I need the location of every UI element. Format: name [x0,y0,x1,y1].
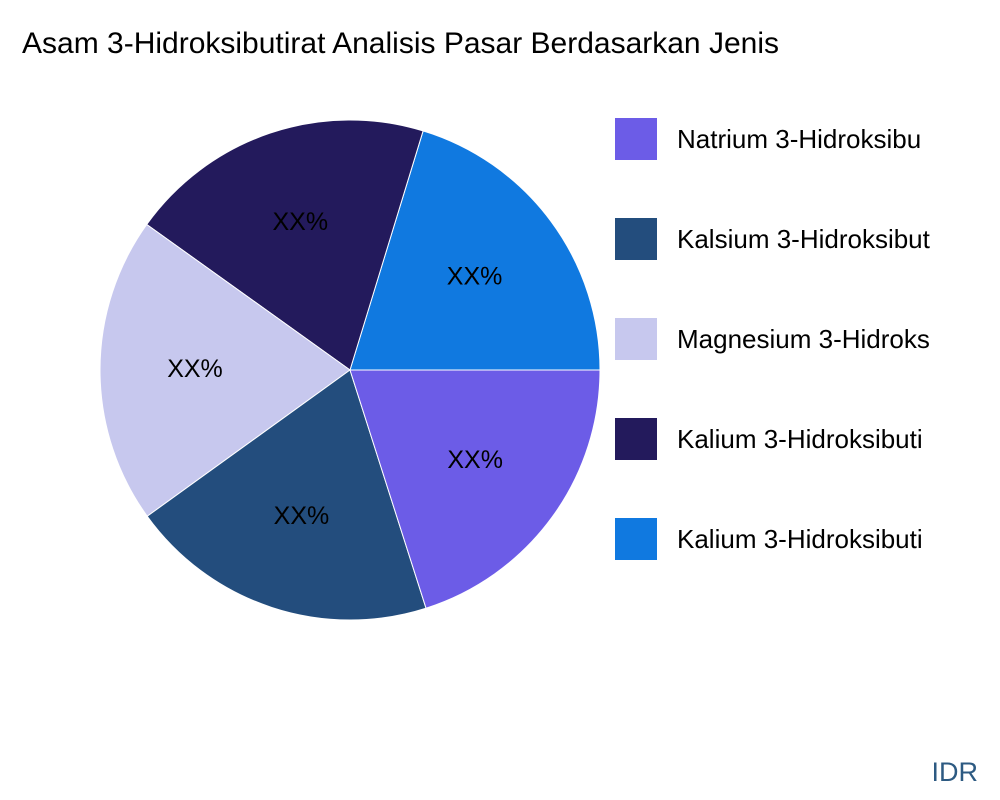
legend: Natrium 3-HidroksibuKalsium 3-Hidroksibu… [615,118,1000,618]
legend-item-label: Magnesium 3-Hidroks [677,322,930,356]
slice-kalium-blue-value-label: XX% [447,262,503,290]
chart-title: Asam 3-Hidroksibutirat Analisis Pasar Be… [22,22,1000,66]
legend-item-label: Natrium 3-Hidroksibu [677,122,921,156]
pie-svg: XX%XX%XX%XX%XX% [100,120,600,620]
legend-swatch-magnesium [615,318,657,360]
legend-swatch-kalium-blue [615,518,657,560]
legend-item-4[interactable]: Kalium 3-Hidroksibuti [615,418,1000,518]
legend-item-3[interactable]: Magnesium 3-Hidroks [615,318,1000,418]
legend-item-5[interactable]: Kalium 3-Hidroksibuti [615,518,1000,618]
slice-kalsium-value-label: XX% [274,502,330,530]
slice-kalium-navy-value-label: XX% [273,208,329,236]
legend-item-1[interactable]: Natrium 3-Hidroksibu [615,118,1000,218]
legend-item-2[interactable]: Kalsium 3-Hidroksibut [615,218,1000,318]
legend-item-label: Kalsium 3-Hidroksibut [677,222,930,256]
slice-natrium-value-label: XX% [447,446,503,474]
legend-swatch-kalsium [615,218,657,260]
legend-swatch-natrium [615,118,657,160]
pie-plot-area: XX%XX%XX%XX%XX% [100,120,600,620]
legend-swatch-kalium-navy [615,418,657,460]
pie-chart-figure: Asam 3-Hidroksibutirat Analisis Pasar Be… [0,0,1000,800]
slice-magnesium-value-label: XX% [167,355,223,383]
currency-note: IDR [932,757,979,788]
legend-item-label: Kalium 3-Hidroksibuti [677,422,923,456]
legend-item-label: Kalium 3-Hidroksibuti [677,522,923,556]
